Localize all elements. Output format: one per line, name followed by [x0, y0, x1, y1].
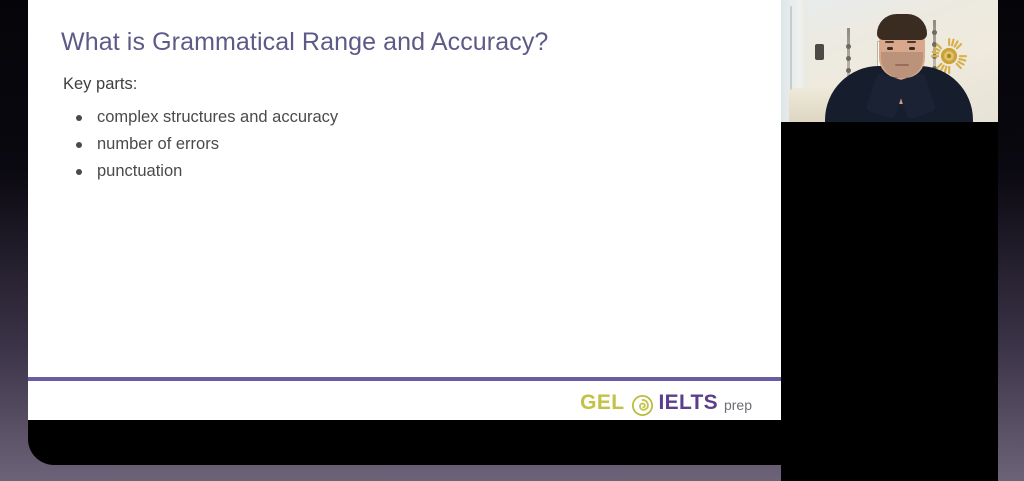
bead	[932, 30, 937, 35]
video-letterbox-fill	[781, 122, 998, 481]
spiral-rose-icon	[632, 395, 653, 416]
bullet-dot-icon	[76, 142, 82, 148]
presenter-webcam-video[interactable]	[781, 0, 998, 122]
bead	[846, 68, 851, 73]
list-item: punctuation	[66, 162, 338, 181]
bullet-dot-icon	[76, 115, 82, 121]
key-parts-list: complex structures and accuracy number o…	[66, 108, 338, 189]
presentation-slide: What is Grammatical Range and Accuracy? …	[28, 0, 781, 420]
list-item: complex structures and accuracy	[66, 108, 338, 127]
logo-prep-text: prep	[724, 397, 752, 413]
list-item: number of errors	[66, 135, 338, 154]
list-item-label: number of errors	[97, 135, 219, 153]
list-item-label: complex structures and accuracy	[97, 108, 338, 126]
bead	[846, 56, 851, 61]
wall-hanging-small	[815, 44, 824, 60]
curtain-fold	[790, 6, 792, 98]
screen-capture: What is Grammatical Range and Accuracy? …	[0, 0, 1024, 481]
list-item-label: punctuation	[97, 162, 182, 180]
key-parts-label: Key parts:	[63, 75, 137, 94]
logo-gel-text: GEL	[580, 391, 624, 415]
bullet-dot-icon	[76, 169, 82, 175]
presenter-mouth	[895, 64, 909, 66]
brand-logo: GEL IELTS prep	[28, 386, 781, 420]
logo-ielts-text: IELTS	[659, 391, 718, 415]
presenter-eyebrow-left	[885, 41, 894, 43]
presenter-eyebrow-right	[907, 41, 916, 43]
page-title: What is Grammatical Range and Accuracy?	[61, 28, 548, 57]
presenter-hair	[877, 14, 927, 40]
presenter-eye-left	[887, 47, 893, 50]
bead	[846, 44, 851, 49]
footer-divider	[28, 377, 781, 381]
presenter-eye-right	[909, 47, 915, 50]
